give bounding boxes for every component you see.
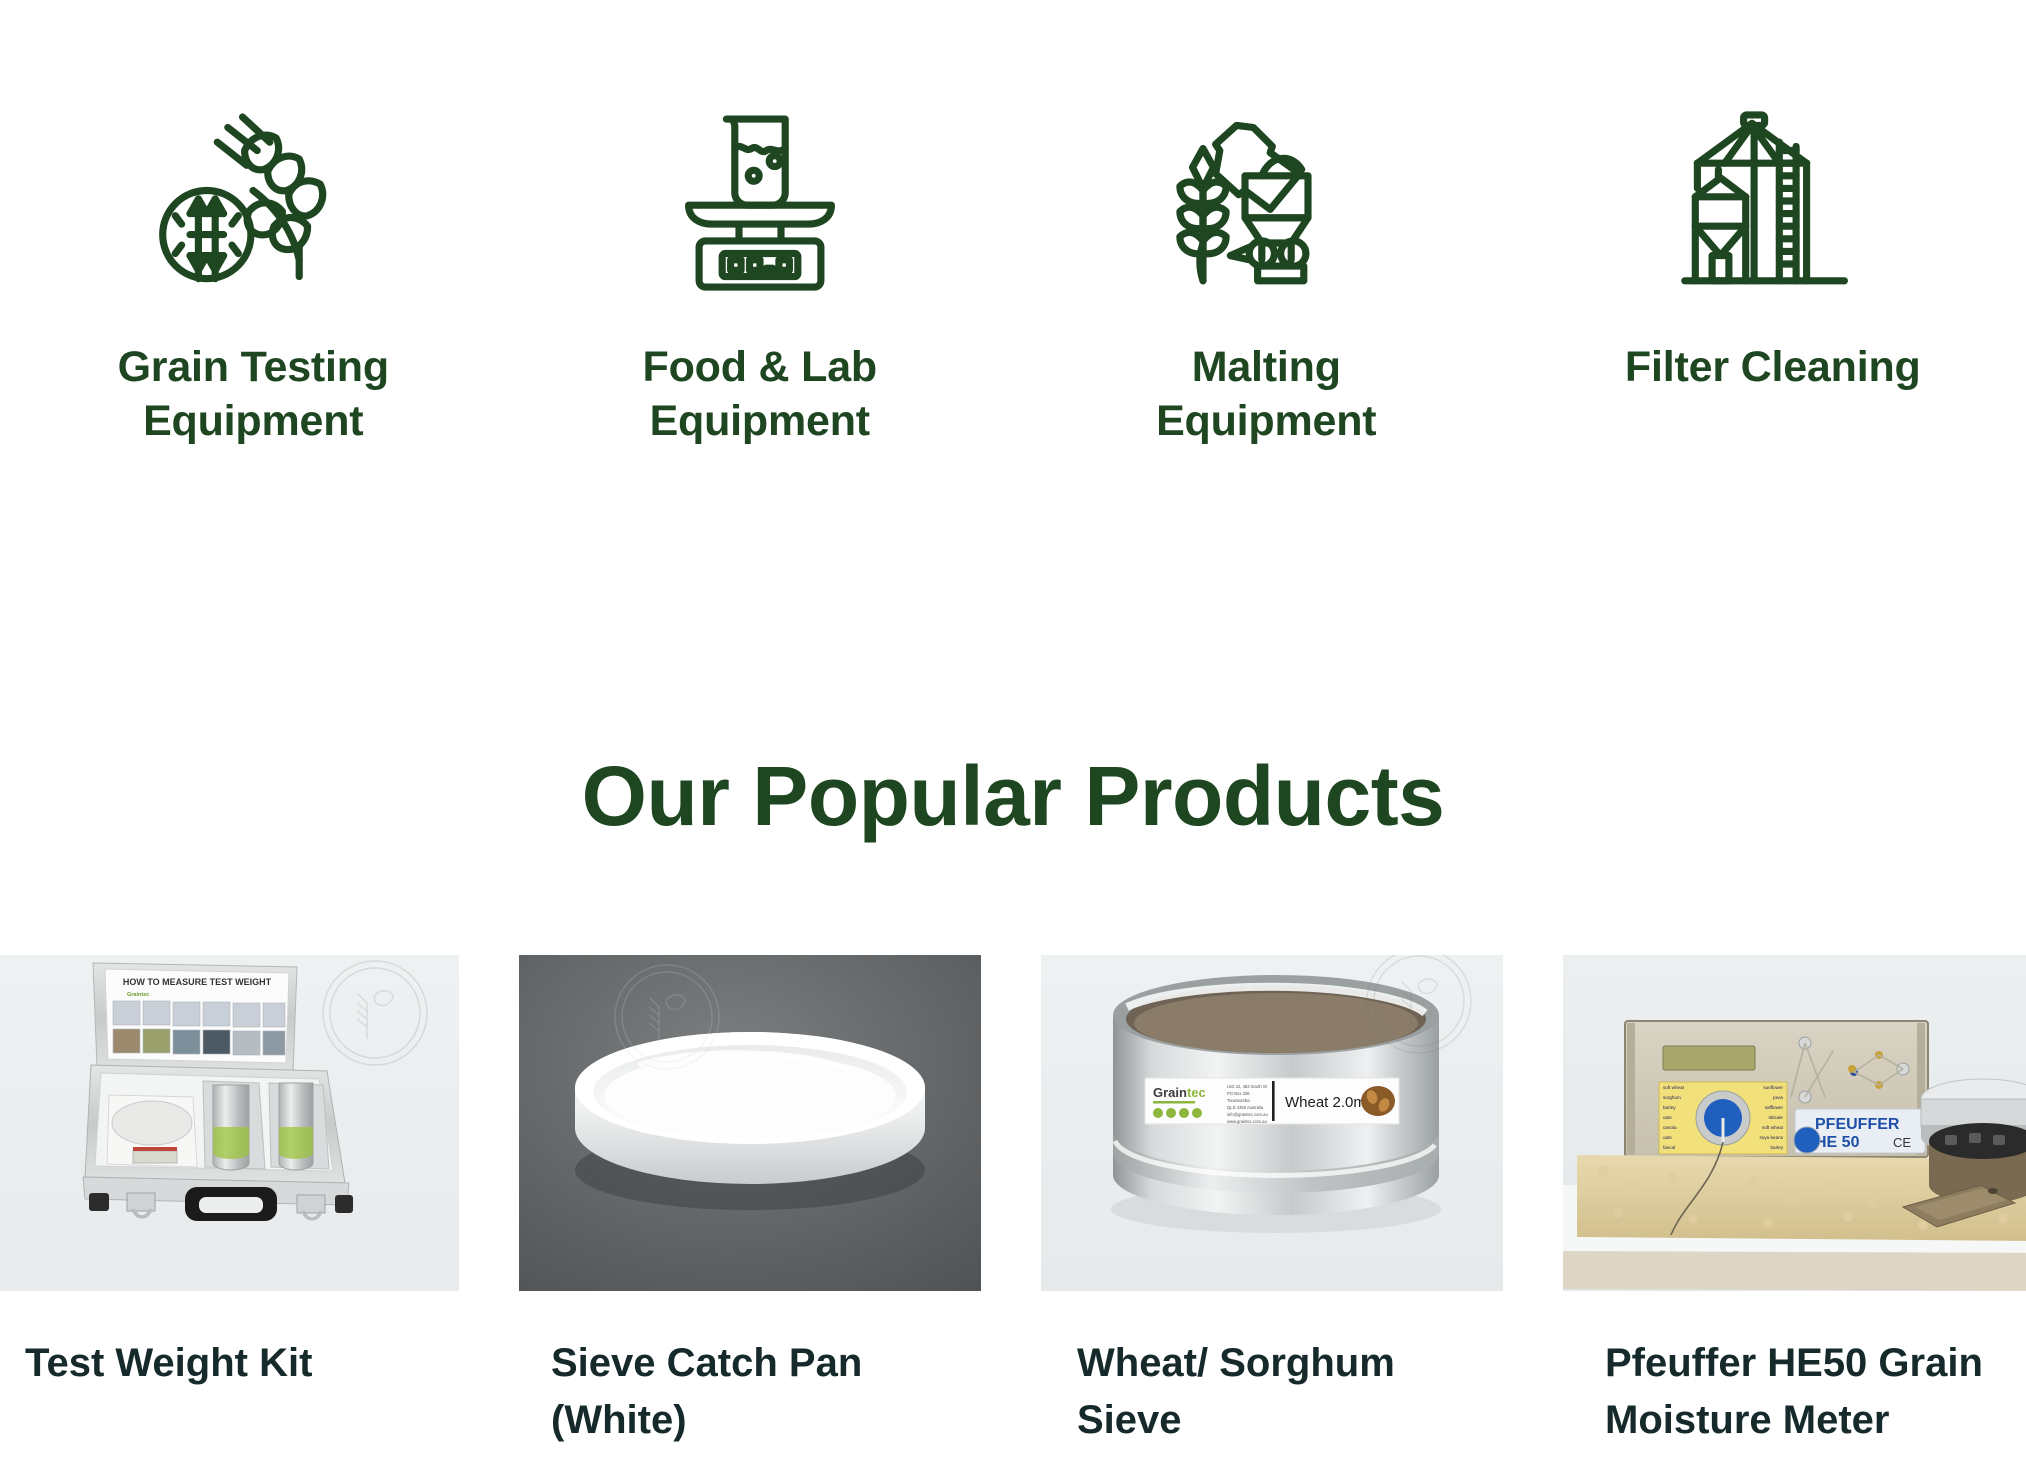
sieve-catch-pan-photo[interactable] bbox=[519, 955, 981, 1291]
category-card-filter-cleaning[interactable]: Filter Cleaning bbox=[1520, 0, 2026, 530]
svg-text:info@graintec.com.au: info@graintec.com.au bbox=[1227, 1112, 1268, 1117]
category-label: Filter Cleaning bbox=[1625, 340, 1921, 394]
grain-silo-icon bbox=[1668, 96, 1878, 306]
wheat-sack-hopper-icon bbox=[1161, 96, 1371, 306]
wheat-sorghum-sieve-photo[interactable]: Graintec Unit 22, 483 South St PO Box 33… bbox=[1041, 955, 1503, 1291]
svg-text:sunflower: sunflower bbox=[1763, 1085, 1783, 1090]
category-card-food-lab[interactable]: Food & Lab Equipment bbox=[507, 0, 1014, 530]
product-title: Pfeuffer HE50 Grain Moisture Meter bbox=[1563, 1335, 1983, 1449]
svg-text:PO Box 336: PO Box 336 bbox=[1227, 1091, 1250, 1096]
svg-text:www.graintec.com.au: www.graintec.com.au bbox=[1227, 1119, 1267, 1124]
popular-products-heading: Our Popular Products bbox=[0, 748, 2026, 845]
svg-text:barley: barley bbox=[1770, 1145, 1783, 1150]
product-title: Sieve Catch Pan (White) bbox=[519, 1335, 939, 1449]
beaker-on-scale-icon bbox=[655, 96, 865, 306]
category-strip: Grain Testing Equipment Food & Lab Equip… bbox=[0, 0, 2026, 530]
svg-text:Graintec: Graintec bbox=[127, 992, 149, 998]
svg-text:triticale: triticale bbox=[1768, 1115, 1783, 1120]
category-label: Malting Equipment bbox=[1101, 340, 1431, 448]
svg-text:Unit 22, 483 South St: Unit 22, 483 South St bbox=[1227, 1084, 1268, 1089]
svg-text:soya beans: soya beans bbox=[1760, 1135, 1784, 1140]
product-card[interactable]: HOW TO MEASURE TEST WEIGHT Graintec bbox=[0, 955, 459, 1482]
svg-text:Toowoomba: Toowoomba bbox=[1227, 1098, 1250, 1103]
test-weight-kit-photo[interactable]: HOW TO MEASURE TEST WEIGHT Graintec bbox=[0, 955, 459, 1291]
svg-text:oats: oats bbox=[1663, 1115, 1672, 1120]
svg-text:HOW TO MEASURE TEST WEIGHT: HOW TO MEASURE TEST WEIGHT bbox=[123, 977, 272, 987]
product-title: Test Weight Kit bbox=[0, 1335, 417, 1392]
svg-text:faecal: faecal bbox=[1663, 1145, 1675, 1150]
product-title: Wheat/ Sorghum Sieve bbox=[1041, 1335, 1461, 1449]
svg-text:canola: canola bbox=[1663, 1125, 1677, 1130]
svg-text:sorghum: sorghum bbox=[1663, 1095, 1681, 1100]
category-label: Food & Lab Equipment bbox=[595, 340, 925, 448]
svg-text:PFEUFFER: PFEUFFER bbox=[1815, 1116, 1900, 1133]
category-label: Grain Testing Equipment bbox=[88, 340, 418, 448]
svg-text:QLD 4350 Australia: QLD 4350 Australia bbox=[1227, 1105, 1264, 1110]
product-card[interactable]: Sieve Catch Pan (White) bbox=[519, 955, 981, 1482]
svg-text:HE 50: HE 50 bbox=[1815, 1134, 1860, 1151]
svg-text:barley: barley bbox=[1663, 1105, 1676, 1110]
product-card[interactable]: soft wheatsorghum barleyoats canolaoats … bbox=[1563, 955, 2026, 1482]
pfeuffer-he50-photo[interactable]: soft wheatsorghum barleyoats canolaoats … bbox=[1563, 955, 2026, 1291]
category-card-malting[interactable]: Malting Equipment bbox=[1013, 0, 1520, 530]
svg-text:CE: CE bbox=[1893, 1135, 1911, 1150]
svg-text:soft wheat: soft wheat bbox=[1663, 1085, 1685, 1090]
svg-text:oats: oats bbox=[1663, 1135, 1672, 1140]
product-card[interactable]: Graintec Unit 22, 483 South St PO Box 33… bbox=[1041, 955, 1503, 1482]
svg-text:safflower: safflower bbox=[1765, 1105, 1784, 1110]
svg-text:soft wheat: soft wheat bbox=[1762, 1125, 1784, 1130]
svg-text:Graintec: Graintec bbox=[1153, 1085, 1206, 1100]
category-card-grain-testing[interactable]: Grain Testing Equipment bbox=[0, 0, 507, 530]
svg-text:peas: peas bbox=[1773, 1095, 1784, 1100]
popular-products-row: HOW TO MEASURE TEST WEIGHT Graintec bbox=[0, 955, 2026, 1482]
wheat-sieve-icon bbox=[148, 96, 358, 306]
